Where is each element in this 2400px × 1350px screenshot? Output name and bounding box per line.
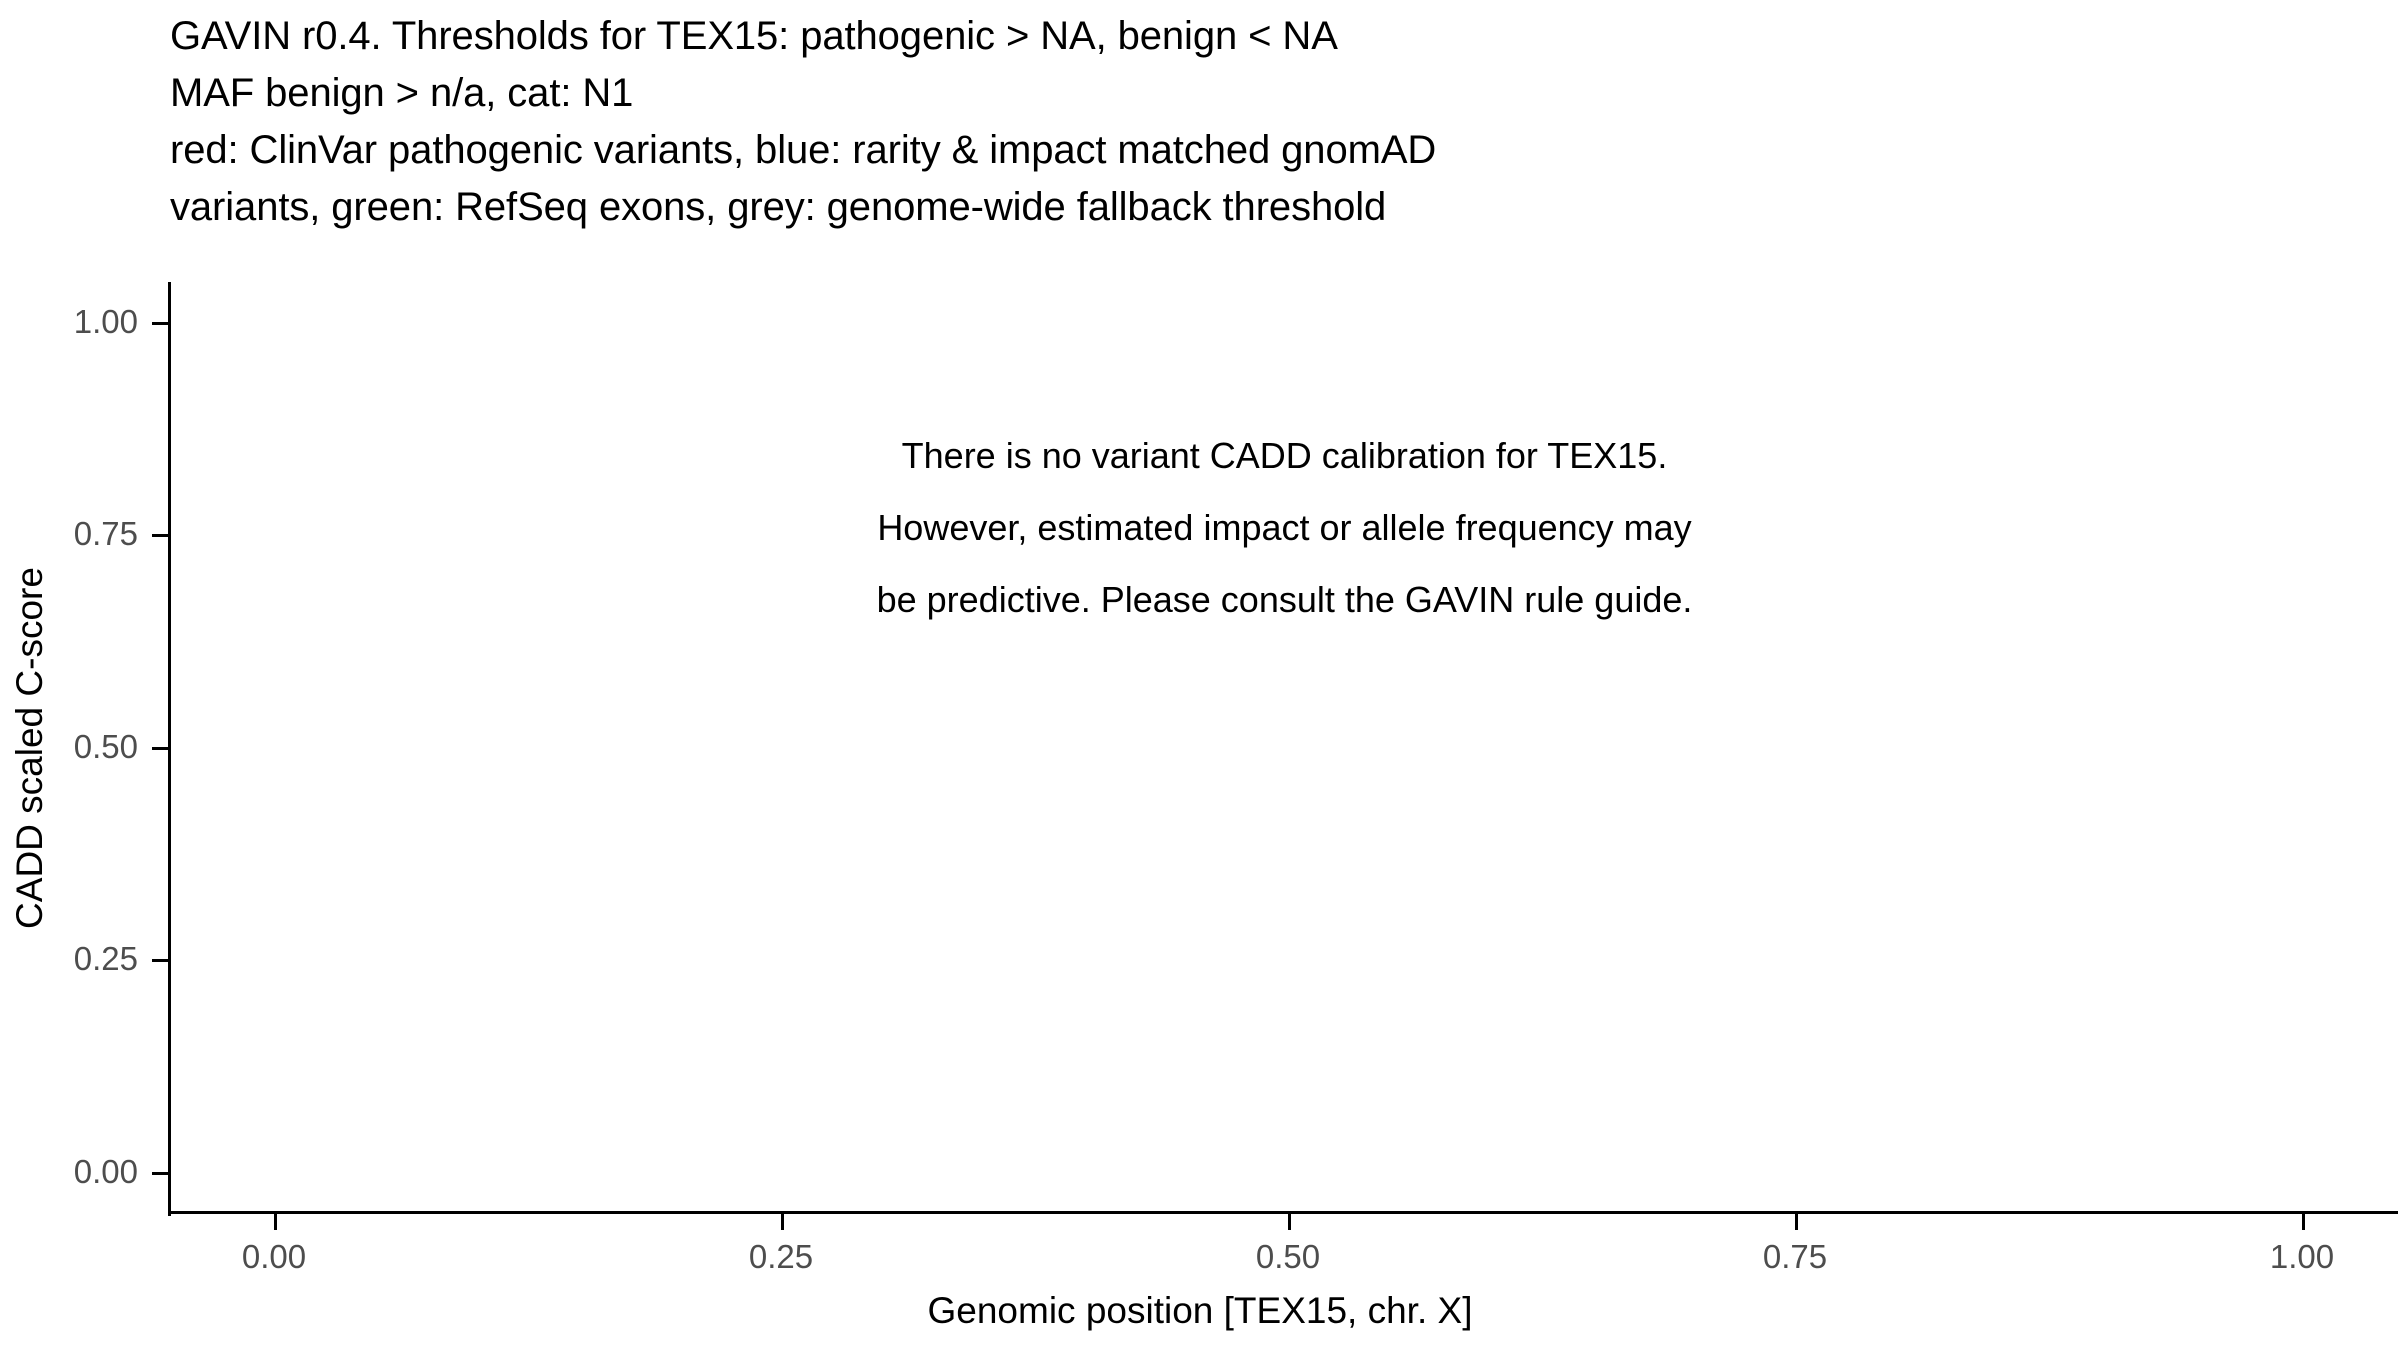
y-tick-label-2: 0.75 — [74, 515, 152, 553]
y-tick-mark-1 — [152, 322, 168, 325]
y-tick-label-1: 1.00 — [74, 303, 152, 341]
x-tick-label-1: 0.00 — [242, 1238, 306, 1276]
y-tick-mark-3 — [152, 747, 168, 750]
x-tick-label-3: 0.50 — [1256, 1238, 1320, 1276]
y-tick-label-3: 0.50 — [74, 728, 152, 766]
annotation-line-2: However, estimated impact or allele freq… — [171, 492, 2398, 564]
x-axis-title: Genomic position [TEX15, chr. X] — [0, 1290, 2400, 1332]
chart-title-line-4: variants, green: RefSeq exons, grey: gen… — [170, 179, 2270, 236]
x-tick-mark-1 — [274, 1214, 277, 1230]
x-tick-mark-3 — [1288, 1214, 1291, 1230]
chart-figure: GAVIN r0.4. Thresholds for TEX15: pathog… — [0, 0, 2400, 1350]
x-tick-mark-2 — [781, 1214, 784, 1230]
y-tick-mark-4 — [152, 959, 168, 962]
y-tick-mark-5 — [152, 1172, 168, 1175]
annotation-line-3: be predictive. Please consult the GAVIN … — [171, 564, 2398, 636]
y-tick-label-5: 0.00 — [74, 1153, 152, 1191]
x-tick-mark-5 — [2302, 1214, 2305, 1230]
chart-title: GAVIN r0.4. Thresholds for TEX15: pathog… — [170, 8, 2270, 236]
y-tick-mark-2 — [152, 534, 168, 537]
chart-title-line-2: MAF benign > n/a, cat: N1 — [170, 65, 2270, 122]
chart-title-line-3: red: ClinVar pathogenic variants, blue: … — [170, 122, 2270, 179]
y-axis-title: CADD scaled C-score — [9, 567, 51, 929]
x-axis-line — [168, 1211, 2398, 1214]
x-tick-mark-4 — [1795, 1214, 1798, 1230]
x-tick-label-4: 0.75 — [1763, 1238, 1827, 1276]
x-tick-label-2: 0.25 — [749, 1238, 813, 1276]
annotation-line-1: There is no variant CADD calibration for… — [171, 420, 2398, 492]
y-tick-label-4: 0.25 — [74, 940, 152, 978]
x-tick-label-5: 1.00 — [2270, 1238, 2334, 1276]
y-axis-title-container: CADD scaled C-score — [0, 282, 60, 1213]
no-calibration-annotation: There is no variant CADD calibration for… — [171, 420, 2398, 636]
chart-title-line-1: GAVIN r0.4. Thresholds for TEX15: pathog… — [170, 8, 2270, 65]
